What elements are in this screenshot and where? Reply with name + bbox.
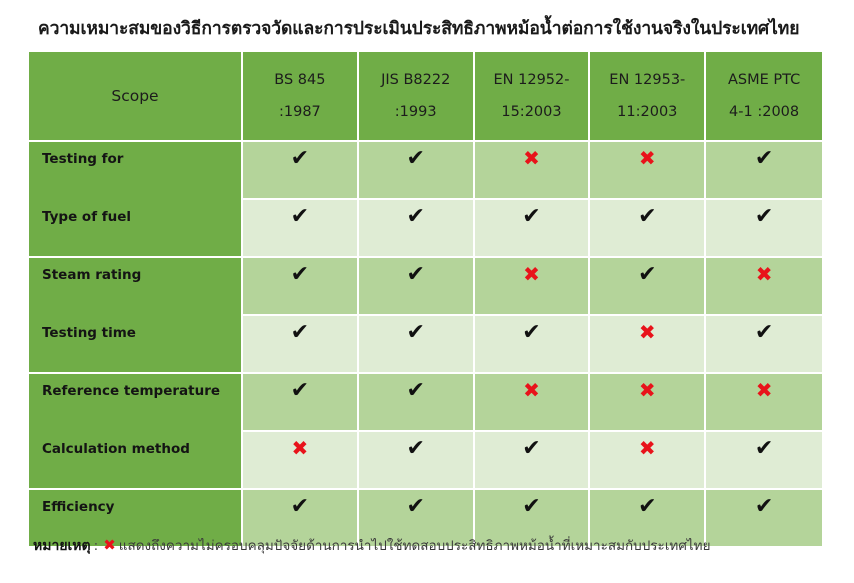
standard-year-3: 11:2003 <box>590 105 704 120</box>
mark-cell-r4c3: ✖ <box>590 374 706 432</box>
check-icon: ✔ <box>755 316 773 344</box>
mark-cell-r0c1: ✔ <box>359 142 475 200</box>
scope-label-3: Testing time <box>42 316 241 341</box>
table-header: Scope BS 845 :1987 JIS B8222 :1993 EN 12… <box>29 52 822 142</box>
mark-cell-r0c3: ✖ <box>590 142 706 200</box>
footnote-label: หมายเหตุ <box>33 538 91 554</box>
check-icon: ✔ <box>755 142 773 170</box>
standard-name-3: EN 12953- <box>590 73 704 88</box>
mark-cell-r3c4: ✔ <box>706 316 822 374</box>
scope-label-2: Steam rating <box>42 258 241 283</box>
mark-cell-r2c1: ✔ <box>359 258 475 316</box>
table-body: Testing for ✔ ✔ ✖ ✖ ✔ Type of fuel ✔ ✔ ✔… <box>29 142 822 546</box>
standard-year-2: 15:2003 <box>475 105 589 120</box>
standard-year-4: 4-1 :2008 <box>706 105 822 120</box>
mark-cell-r5c2: ✔ <box>475 432 591 490</box>
check-icon: ✔ <box>291 316 309 344</box>
scope-label-1: Type of fuel <box>42 200 241 225</box>
mark-cell-r4c0: ✔ <box>243 374 359 432</box>
mark-cell-r3c1: ✔ <box>359 316 475 374</box>
cross-icon: ✖ <box>292 432 309 458</box>
standard-name-1: JIS B8222 <box>359 73 473 88</box>
standard-year-0: :1987 <box>243 105 357 120</box>
mark-cell-r1c4: ✔ <box>706 200 822 258</box>
check-icon: ✔ <box>406 374 424 402</box>
column-header-standard-1: JIS B8222 :1993 <box>359 52 475 142</box>
check-icon: ✔ <box>638 200 656 228</box>
check-icon: ✔ <box>291 490 309 518</box>
cross-icon: ✖ <box>523 258 540 284</box>
check-icon: ✔ <box>406 432 424 460</box>
column-header-scope: Scope <box>29 52 243 142</box>
mark-cell-r3c0: ✔ <box>243 316 359 374</box>
column-header-standard-2: EN 12952- 15:2003 <box>475 52 591 142</box>
standard-name-4: ASME PTC <box>706 73 822 88</box>
mark-cell-r4c4: ✖ <box>706 374 822 432</box>
standards-comparison-table: Scope BS 845 :1987 JIS B8222 :1993 EN 12… <box>29 52 822 546</box>
mark-cell-r0c4: ✔ <box>706 142 822 200</box>
check-icon: ✔ <box>638 258 656 286</box>
check-icon: ✔ <box>522 316 540 344</box>
column-header-standard-0: BS 845 :1987 <box>243 52 359 142</box>
standard-name-0: BS 845 <box>243 73 357 88</box>
mark-cell-r1c0: ✔ <box>243 200 359 258</box>
mark-cell-r1c3: ✔ <box>590 200 706 258</box>
mark-cell-r4c1: ✔ <box>359 374 475 432</box>
check-icon: ✔ <box>291 374 309 402</box>
cross-icon: ✖ <box>639 374 656 400</box>
scope-cell-3: Testing time <box>29 316 243 374</box>
mark-cell-r0c2: ✖ <box>475 142 591 200</box>
check-icon: ✔ <box>406 258 424 286</box>
check-icon: ✔ <box>522 200 540 228</box>
scope-label-0: Testing for <box>42 142 241 167</box>
mark-cell-r1c2: ✔ <box>475 200 591 258</box>
check-icon: ✔ <box>291 258 309 286</box>
table-row: Reference temperature ✔ ✔ ✖ ✖ ✖ <box>29 374 822 432</box>
check-icon: ✔ <box>638 490 656 518</box>
mark-cell-r2c4: ✖ <box>706 258 822 316</box>
mark-cell-r5c3: ✖ <box>590 432 706 490</box>
page-root: ความเหมาะสมของวิธีการตรวจวัดและการประเมิ… <box>0 0 854 583</box>
scope-label-6: Efficiency <box>42 490 241 515</box>
mark-cell-r5c0: ✖ <box>243 432 359 490</box>
mark-cell-r0c0: ✔ <box>243 142 359 200</box>
check-icon: ✔ <box>406 142 424 170</box>
check-icon: ✔ <box>755 200 773 228</box>
scope-label-4: Reference temperature <box>42 374 241 399</box>
table-row: Steam rating ✔ ✔ ✖ ✔ ✖ <box>29 258 822 316</box>
check-icon: ✔ <box>522 432 540 460</box>
mark-cell-r2c0: ✔ <box>243 258 359 316</box>
footnote: หมายเหตุ:✖แสดงถึงความไม่ครอบคลุมปัจจัยด้… <box>33 536 833 555</box>
cross-icon: ✖ <box>523 142 540 168</box>
standard-year-1: :1993 <box>359 105 473 120</box>
mark-cell-r1c1: ✔ <box>359 200 475 258</box>
mark-cell-r5c4: ✔ <box>706 432 822 490</box>
cross-icon: ✖ <box>639 432 656 458</box>
mark-cell-r2c2: ✖ <box>475 258 591 316</box>
check-icon: ✔ <box>291 142 309 170</box>
scope-label-5: Calculation method <box>42 432 241 457</box>
header-row: Scope BS 845 :1987 JIS B8222 :1993 EN 12… <box>29 52 822 142</box>
check-icon: ✔ <box>406 200 424 228</box>
cross-icon: ✖ <box>639 316 656 342</box>
scope-cell-0: Testing for <box>29 142 243 200</box>
footnote-text: แสดงถึงความไม่ครอบคลุมปัจจัยด้านการนำไปใ… <box>119 538 711 554</box>
mark-cell-r4c2: ✖ <box>475 374 591 432</box>
table-row: Calculation method ✖ ✔ ✔ ✖ ✔ <box>29 432 822 490</box>
cross-icon: ✖ <box>100 536 119 554</box>
scope-cell-4: Reference temperature <box>29 374 243 432</box>
cross-icon: ✖ <box>756 374 773 400</box>
scope-cell-2: Steam rating <box>29 258 243 316</box>
cross-icon: ✖ <box>639 142 656 168</box>
mark-cell-r2c3: ✔ <box>590 258 706 316</box>
scope-cell-1: Type of fuel <box>29 200 243 258</box>
standard-name-2: EN 12952- <box>475 73 589 88</box>
mark-cell-r3c3: ✖ <box>590 316 706 374</box>
check-icon: ✔ <box>406 316 424 344</box>
mark-cell-r3c2: ✔ <box>475 316 591 374</box>
table-row: Testing for ✔ ✔ ✖ ✖ ✔ <box>29 142 822 200</box>
page-title: ความเหมาะสมของวิธีการตรวจวัดและการประเมิ… <box>38 14 828 42</box>
check-icon: ✔ <box>522 490 540 518</box>
cross-icon: ✖ <box>756 258 773 284</box>
scope-cell-5: Calculation method <box>29 432 243 490</box>
check-icon: ✔ <box>755 490 773 518</box>
check-icon: ✔ <box>291 200 309 228</box>
column-header-standard-3: EN 12953- 11:2003 <box>590 52 706 142</box>
cross-icon: ✖ <box>523 374 540 400</box>
check-icon: ✔ <box>755 432 773 460</box>
footnote-colon: : <box>91 538 101 554</box>
check-icon: ✔ <box>406 490 424 518</box>
table-row: Type of fuel ✔ ✔ ✔ ✔ ✔ <box>29 200 822 258</box>
mark-cell-r5c1: ✔ <box>359 432 475 490</box>
column-header-standard-4: ASME PTC 4-1 :2008 <box>706 52 822 142</box>
comparison-table-container: Scope BS 845 :1987 JIS B8222 :1993 EN 12… <box>29 52 822 520</box>
table-row: Testing time ✔ ✔ ✔ ✖ ✔ <box>29 316 822 374</box>
